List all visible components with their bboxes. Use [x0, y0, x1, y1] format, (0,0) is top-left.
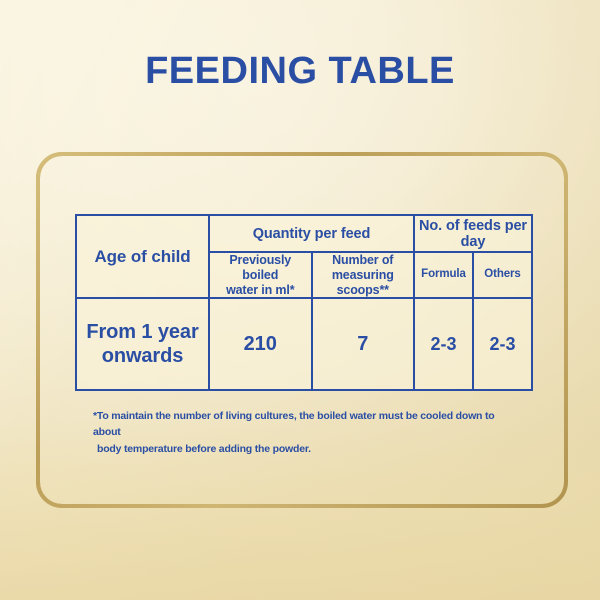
header-scoops-line2: measuring scoops** — [332, 268, 394, 297]
header-quantity-per-feed: Quantity per feed — [209, 215, 414, 252]
feeding-table: Age of child Quantity per feed No. of fe… — [75, 214, 533, 391]
cell-other-feeds: 2-3 — [473, 298, 532, 390]
footnote: *To maintain the number of living cultur… — [93, 408, 513, 457]
footnote-line-2: body temperature before adding the powde… — [93, 441, 513, 457]
cell-age-line2: onwards — [102, 345, 184, 367]
footnote-line-1: *To maintain the number of living cultur… — [93, 408, 513, 441]
cell-formula-feeds: 2-3 — [414, 298, 473, 390]
table-header-row-group: Age of child Quantity per feed No. of fe… — [76, 215, 532, 252]
header-others: Others — [473, 252, 532, 298]
header-scoops-line1: Number of — [332, 253, 393, 267]
header-formula: Formula — [414, 252, 473, 298]
header-previously-boiled-water: Previously boiled water in ml* — [209, 252, 312, 298]
header-age-of-child: Age of child — [76, 215, 209, 298]
header-boiled-water-line2: water in ml* — [226, 283, 294, 297]
header-feeds-per-day: No. of feeds per day — [414, 215, 532, 252]
page-title: FEEDING TABLE — [0, 50, 600, 93]
cell-scoops: 7 — [312, 298, 415, 390]
cell-water-ml: 210 — [209, 298, 312, 390]
cell-age-range: From 1 year onwards — [76, 298, 209, 390]
table-row: From 1 year onwards 210 7 2-3 2-3 — [76, 298, 532, 390]
cell-age-line1: From 1 year — [86, 321, 198, 343]
header-boiled-water-line1: Previously boiled — [229, 253, 291, 282]
header-number-of-measuring-scoops: Number of measuring scoops** — [312, 252, 415, 298]
